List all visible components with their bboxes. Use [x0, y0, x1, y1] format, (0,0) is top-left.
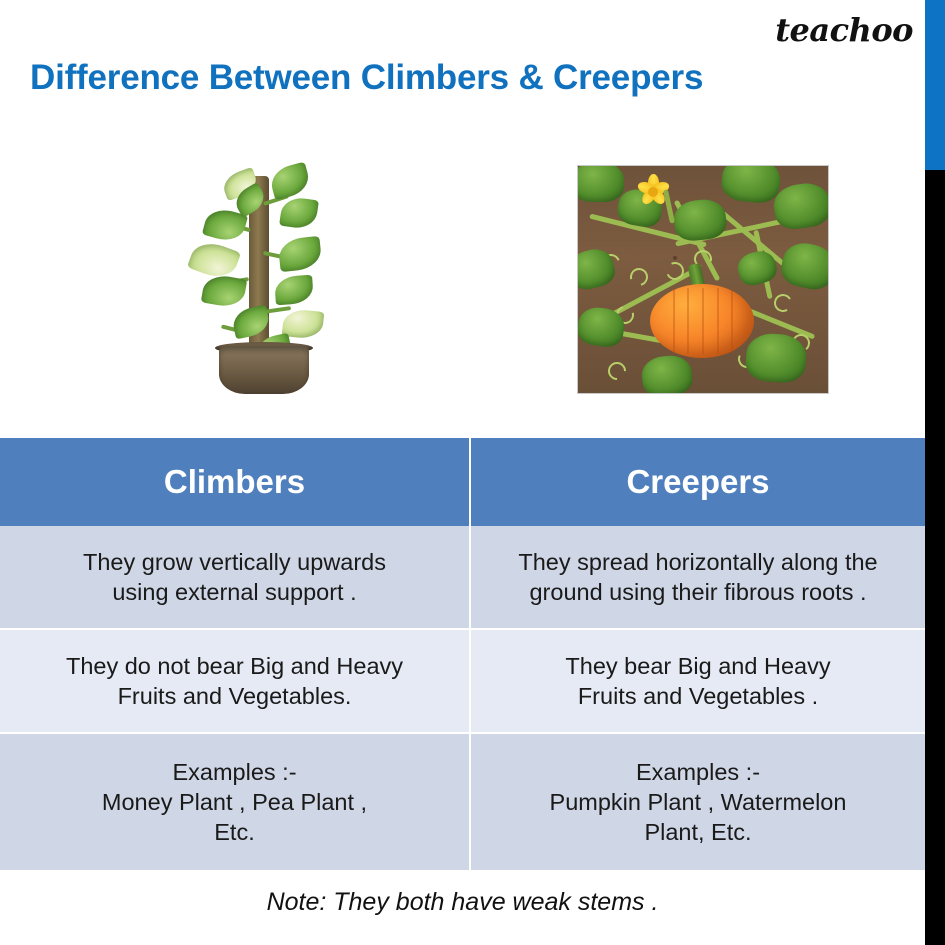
table-row: They grow vertically upwards using exter… — [0, 526, 925, 629]
cell-creepers-fruits: They bear Big and Heavy Fruits and Veget… — [470, 629, 925, 733]
cell-creepers-examples: Examples :- Pumpkin Plant , Watermelon P… — [470, 733, 925, 871]
infographic-page: teachoo Difference Between Climbers & Cr… — [0, 0, 945, 945]
leaf — [187, 237, 241, 283]
table-row: They do not bear Big and Heavy Fruits an… — [0, 629, 925, 733]
cell-line: Etc. — [10, 817, 459, 847]
leaf — [577, 165, 624, 202]
cell-line: They bear Big and Heavy — [481, 651, 915, 681]
cell-line: using external support . — [10, 577, 459, 607]
table-header-row: Climbers Creepers — [0, 438, 925, 526]
cell-climbers-fruits: They do not bear Big and Heavy Fruits an… — [0, 629, 470, 733]
creeper-plant-image — [577, 165, 829, 394]
comparison-table: Climbers Creepers They grow vertically u… — [0, 438, 925, 872]
right-edge-black-bar — [925, 170, 945, 945]
footer-note: Note: They both have weak stems . — [0, 888, 925, 917]
cell-line: Examples :- — [481, 757, 915, 787]
teachoo-logo: teachoo — [775, 14, 913, 46]
leaf — [274, 275, 314, 306]
column-header-climbers: Climbers — [0, 438, 470, 526]
cell-line: They spread horizontally along the — [481, 547, 915, 577]
cell-line: Fruits and Vegetables . — [481, 681, 915, 711]
leaf — [771, 180, 829, 231]
cell-climbers-examples: Examples :- Money Plant , Pea Plant , Et… — [0, 733, 470, 871]
cell-line: Examples :- — [10, 757, 459, 787]
leaf — [577, 245, 618, 293]
leaf — [640, 353, 694, 394]
page-title: Difference Between Climbers & Creepers — [30, 58, 703, 98]
leaf — [279, 196, 319, 231]
leaf — [778, 239, 829, 293]
pumpkin-fruit — [650, 284, 754, 358]
leaf — [720, 165, 782, 205]
cell-line: Plant, Etc. — [481, 817, 915, 847]
leaf — [277, 236, 322, 272]
leaf — [201, 273, 248, 310]
cell-line: They grow vertically upwards — [10, 547, 459, 577]
cell-climbers-growth: They grow vertically upwards using exter… — [0, 526, 470, 629]
table-row: Examples :- Money Plant , Pea Plant , Et… — [0, 733, 925, 871]
climber-plant-image — [175, 158, 350, 398]
cell-line: Fruits and Vegetables. — [10, 681, 459, 711]
cell-creepers-growth: They spread horizontally along the groun… — [470, 526, 925, 629]
illustration-row — [0, 150, 925, 400]
leaf — [268, 162, 312, 201]
cell-line: Pumpkin Plant , Watermelon — [481, 787, 915, 817]
cell-line: Money Plant , Pea Plant , — [10, 787, 459, 817]
cell-line: They do not bear Big and Heavy — [10, 651, 459, 681]
flower-pot — [219, 346, 309, 394]
cell-line: ground using their fibrous roots . — [481, 577, 915, 607]
right-edge-blue-bar — [925, 0, 945, 170]
column-header-creepers: Creepers — [470, 438, 925, 526]
